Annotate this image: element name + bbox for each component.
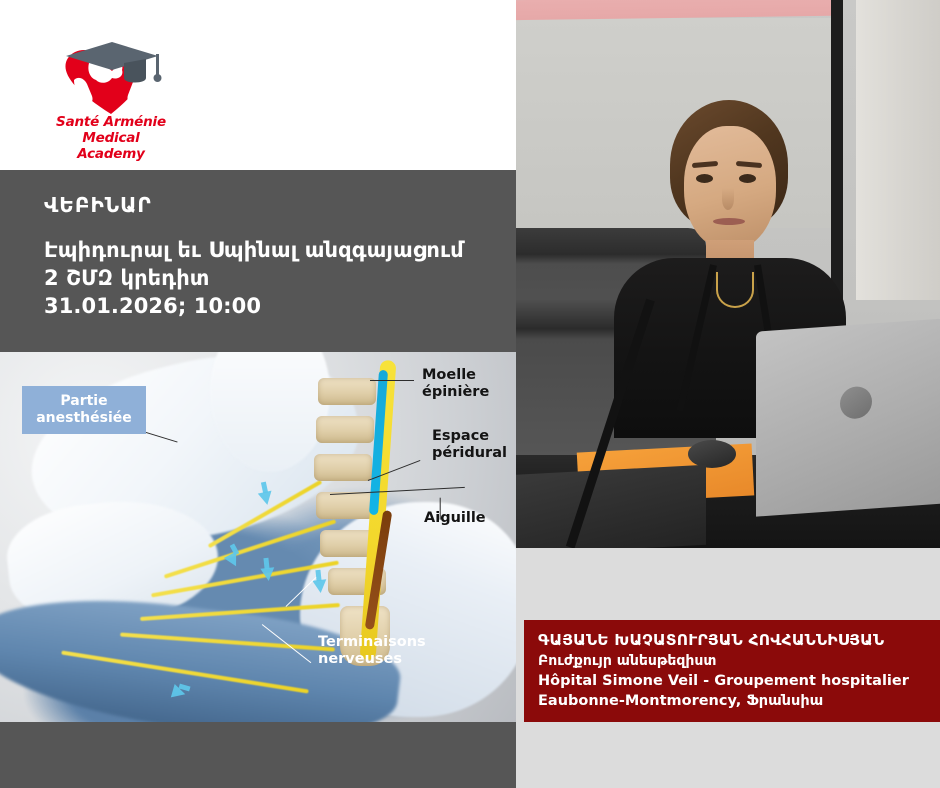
necklace [716,272,754,308]
webinar-poster: Santé Arménie Medical Academy ՎԵԲԻՆԱՐ Էպ… [0,0,940,788]
logo-line-2: Medical Academy [50,130,172,162]
hp-logo-icon [840,386,872,420]
webinar-datetime: 31.01.2026; 10:00 [44,292,490,320]
flow-arrow-head [312,579,327,593]
label-spinal-cord: Moelle épinière [422,367,489,401]
label-nerve-endings: Terminaisons nerveuses [318,634,426,668]
silver-laptop [756,318,940,516]
eye-right [739,174,756,183]
brand-logo: Santé Arménie Medical Academy [50,40,172,150]
office-wall-right [856,0,940,300]
logo-wordmark: Santé Arménie Medical Academy [50,114,172,162]
logo-panel: Santé Arménie Medical Academy [0,0,516,170]
webinar-credits: 2 ՇՄԶ կրեդիտ [44,264,490,292]
mouth [713,218,745,225]
flow-arrow-head [260,567,275,581]
nose [722,188,734,210]
label-needle: Aiguille [424,510,486,527]
right-bottom-spacer [516,722,940,788]
speaker-role: Բուժքույր անեսթեզիստ [538,651,940,671]
eye-left [696,174,713,183]
bottom-gray-strip [0,722,516,788]
left-column: Santé Arménie Medical Academy ՎԵԲԻՆԱՐ Էպ… [0,0,516,788]
computer-mouse [688,440,736,468]
speaker-name: ԳԱՅԱՆԵ ԽԱՉԱՏՈՒՐՅԱՆ ՀՈՎՀԱՆՆԻՍՅԱՆ [538,630,940,651]
label-anesthetized-area: Partie anesthésiée [22,386,146,434]
right-column: ԳԱՅԱՆԵ ԽԱՉԱՏՈՒՐՅԱՆ ՀՈՎՀԱՆՆԻՍՅԱՆ Բուժքույ… [516,0,940,788]
webinar-subject: Էպիդուրալ եւ Սպինալ անզգայացում [44,236,490,264]
webinar-kicker: ՎԵԲԻՆԱՐ [44,192,490,218]
label-epidural-space: Espace péridural [432,428,507,462]
speaker-affiliation-line-2: Eaubonne-Montmorency, Ֆրանսիա [538,691,940,711]
dark-laptop [516,465,706,548]
speaker-banner: ԳԱՅԱՆԵ ԽԱՉԱՏՈՒՐՅԱՆ ՀՈՎՀԱՆՆԻՍՅԱՆ Բուժքույ… [524,620,940,722]
speaker-photo [516,0,940,548]
vertebra [316,492,374,519]
right-gap-spacer [516,548,940,620]
leader-line-spinal-cord [370,380,414,381]
vertebra [316,416,374,443]
heart-hands-graduation-cap-icon [50,40,172,118]
speaker-affiliation-line-1: Hôpital Simone Veil - Groupement hospita… [538,671,940,691]
vertebra [318,378,376,405]
vertebra [314,454,372,481]
logo-line-1: Santé Arménie [50,114,172,130]
title-banner: ՎԵԲԻՆԱՐ Էպիդուրալ եւ Սպինալ անզգայացում … [0,170,516,352]
epidural-anatomy-illustration: Partie anesthésiée Moelle épinière Espac… [0,352,516,722]
webinar-title-block: Էպիդուրալ եւ Սպինալ անզգայացում 2 ՇՄԶ կր… [44,236,490,320]
logo-svg [50,40,172,118]
